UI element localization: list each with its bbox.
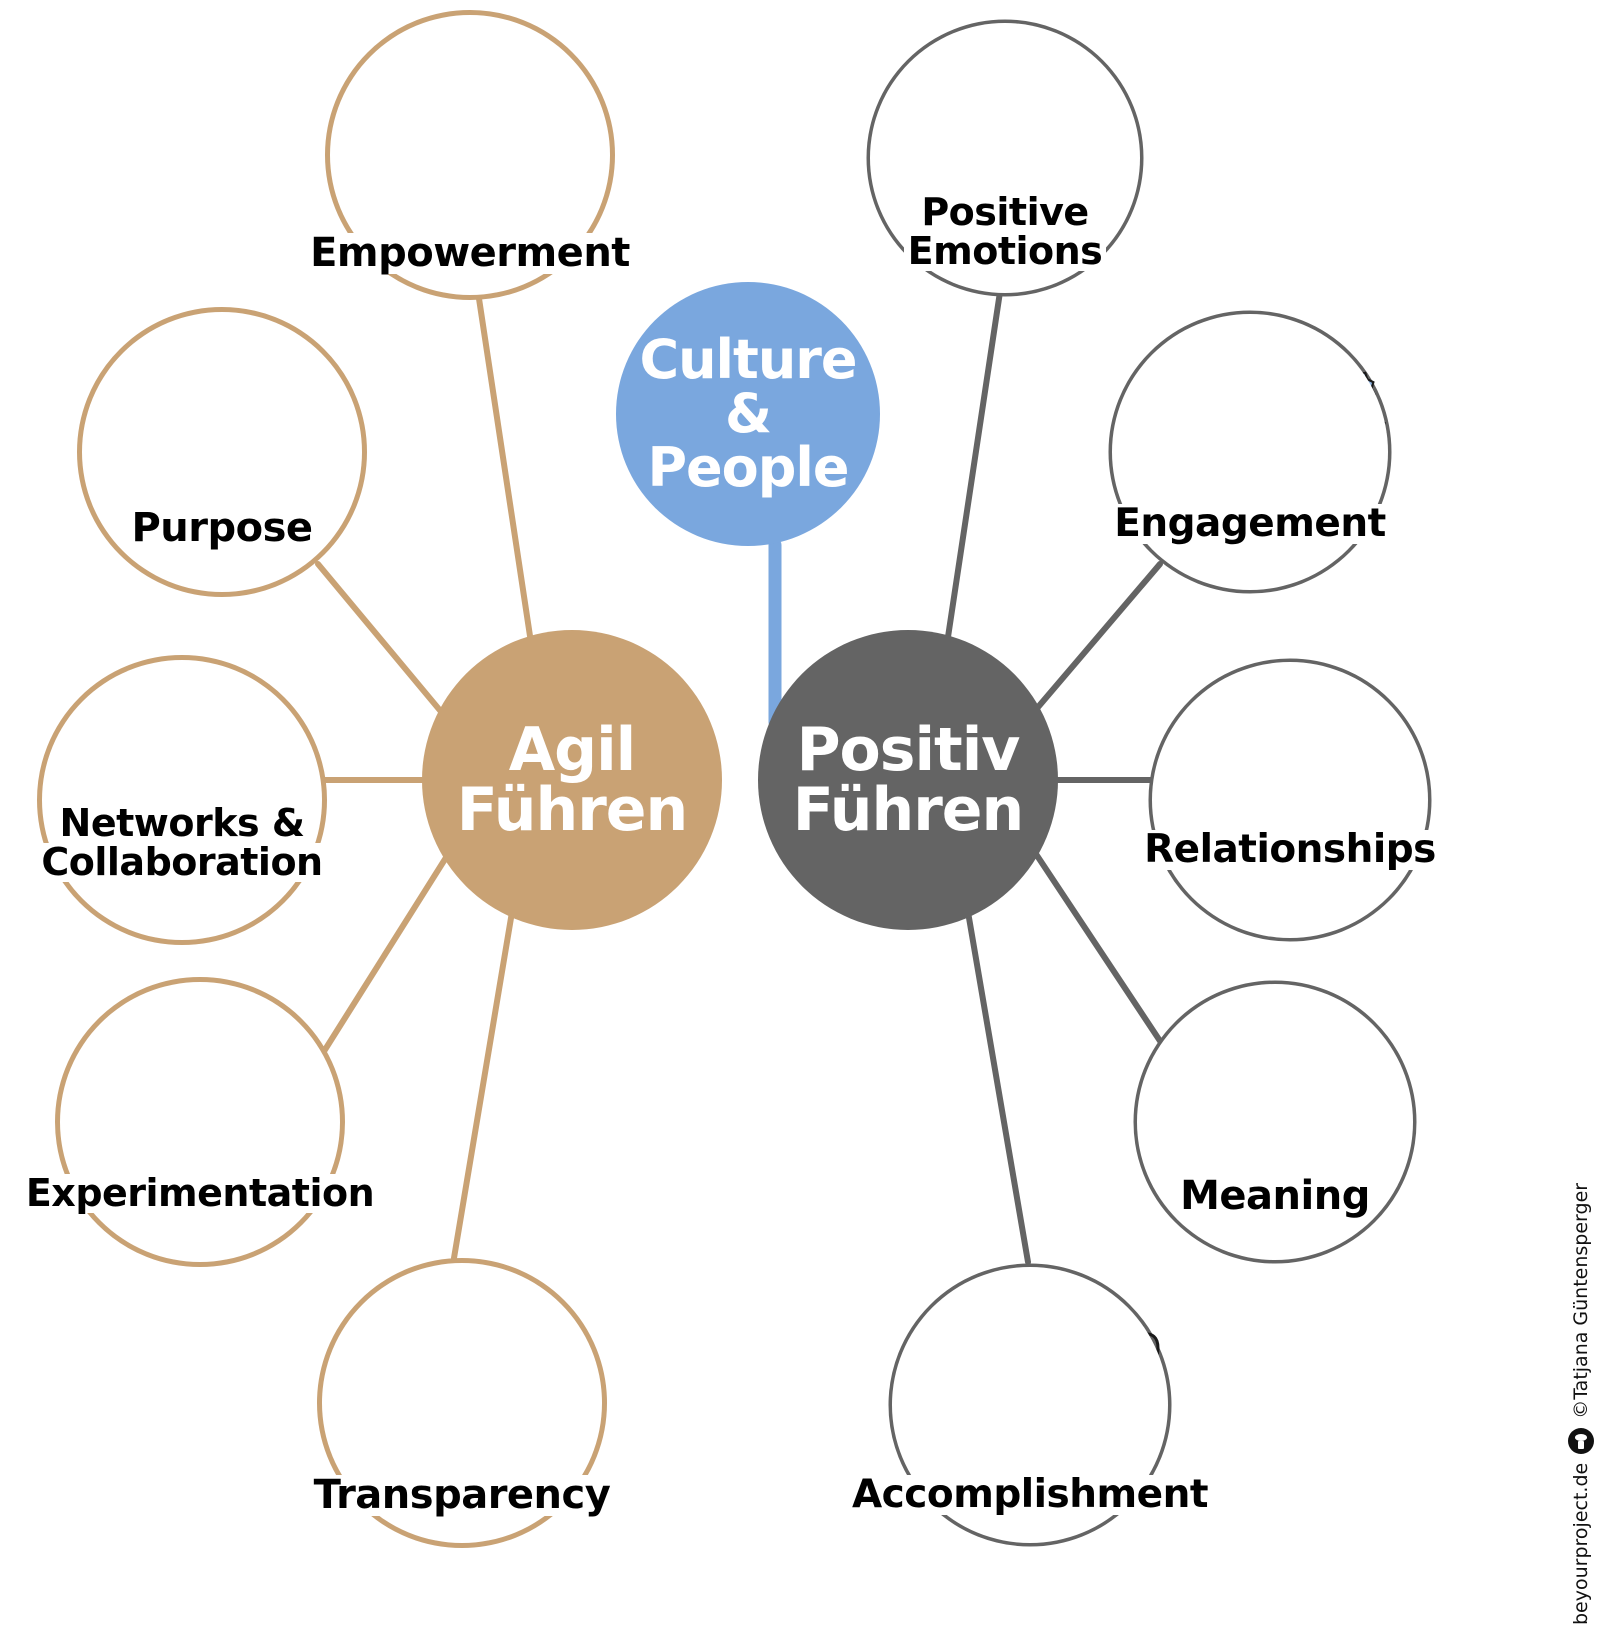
camera-logo-icon bbox=[1568, 1428, 1594, 1454]
culture-people-bubble[interactable]: Culture & People bbox=[616, 282, 880, 546]
hub-positiv-fuehren[interactable]: Positiv Führen bbox=[758, 630, 1058, 930]
node-transparency[interactable]: Transparency bbox=[322, 1263, 602, 1543]
node-label-networks: Networks & Collaboration bbox=[0, 804, 382, 882]
node-accomplishment[interactable]: Accomplishment bbox=[892, 1267, 1168, 1543]
node-label-engagement: Engagement bbox=[1052, 504, 1448, 544]
node-purpose[interactable]: Purpose bbox=[82, 312, 362, 592]
node-networks-collaboration[interactable]: Networks & Collaboration bbox=[42, 660, 322, 940]
hub-agil-fuehren[interactable]: Agil Führen bbox=[422, 630, 722, 930]
node-positive-emotions[interactable]: Positive Emotions bbox=[870, 23, 1140, 293]
node-experimentation[interactable]: Experimentation bbox=[60, 982, 340, 1262]
diagram-canvas: .ln{stroke:#1a1a1a;stroke-width:3;fill:n… bbox=[0, 0, 1616, 1652]
node-label-relationships: Relationships bbox=[1092, 830, 1488, 870]
node-label-empowerment: Empowerment bbox=[270, 233, 670, 274]
node-label-transparency: Transparency bbox=[262, 1475, 662, 1516]
node-meaning[interactable]: Meaning bbox=[1137, 984, 1413, 1260]
node-label-positive-emotions: Positive Emotions bbox=[810, 193, 1200, 271]
node-empowerment[interactable]: Empowerment bbox=[330, 15, 610, 295]
credit-author: ©Tatjana Güntensperger bbox=[1570, 1183, 1592, 1419]
credit-text: beyourproject.de ©Tatjana Güntensperger bbox=[1568, 1183, 1594, 1625]
hub-agil-text: Agil Führen bbox=[457, 720, 687, 840]
credit-site: beyourproject.de bbox=[1570, 1463, 1592, 1625]
culture-people-text: Culture & People bbox=[639, 333, 856, 495]
node-label-accomplishment: Accomplishment bbox=[832, 1475, 1228, 1515]
node-label-purpose: Purpose bbox=[22, 508, 422, 549]
node-label-meaning: Meaning bbox=[1077, 1176, 1473, 1217]
node-relationships[interactable]: Relationships bbox=[1152, 662, 1428, 938]
hub-positiv-text: Positiv Führen bbox=[793, 720, 1023, 840]
node-engagement[interactable]: Engagement bbox=[1112, 314, 1388, 590]
node-label-experimentation: Experimentation bbox=[0, 1174, 400, 1213]
